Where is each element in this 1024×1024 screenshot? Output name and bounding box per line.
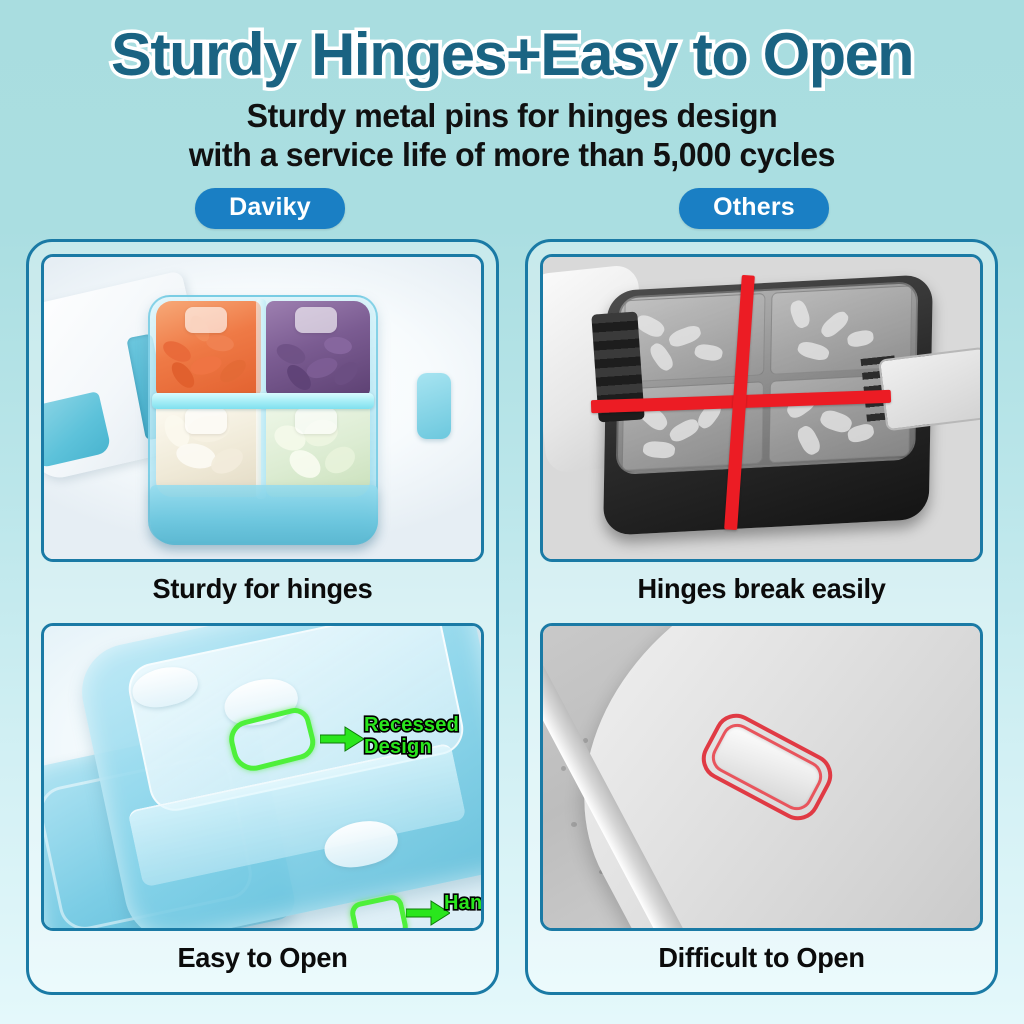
scene-daviky-pillbox — [44, 257, 481, 559]
others-compartment-1 — [623, 293, 765, 383]
photo-daviky-tray-closeup: Recessed Design Handle — [41, 623, 484, 931]
block-easy-to-open: Recessed Design Handle Easy to Open — [41, 623, 484, 986]
caption-difficult-to-open: Difficult to Open — [547, 931, 977, 986]
block-sturdy-for-hinges: Sturdy for hinges — [41, 254, 484, 617]
caption-easy-to-open: Easy to Open — [48, 931, 478, 986]
brand-badge-row: Daviky Others — [0, 188, 1024, 229]
header: Sturdy Hinges+Easy to Open Sturdy metal … — [0, 0, 1024, 174]
compartment-purple-pills — [266, 301, 371, 397]
badge-others: Others — [679, 188, 829, 229]
photo-others-broken-hinge — [540, 254, 983, 562]
caption-hinges-break-easily: Hinges break easily — [547, 562, 977, 617]
photo-others-latch-closeup — [540, 623, 983, 931]
compartment-orange-pills — [156, 301, 261, 397]
pillbox-base — [150, 485, 378, 545]
page-title: Sturdy Hinges+Easy to Open — [0, 22, 1024, 88]
compartment-clear-capsules — [266, 402, 371, 498]
page-subtitle: Sturdy metal pins for hinges design with… — [15, 96, 1008, 174]
badge-cell-right: Others — [512, 188, 996, 229]
badge-cell-left: Daviky — [28, 188, 512, 229]
scene-others-darkbox — [543, 257, 980, 559]
green-arrow-icon — [320, 726, 364, 752]
caption-sturdy-for-hinges: Sturdy for hinges — [48, 562, 478, 617]
subtitle-line-2: with a service life of more than 5,000 c… — [15, 135, 1008, 174]
scene-daviky-tray: Recessed Design Handle — [44, 626, 481, 928]
block-difficult-to-open: Difficult to Open — [540, 623, 983, 986]
others-broken-hinge-bar — [591, 312, 644, 423]
pillbox-side-clip — [417, 373, 451, 439]
pillbox-divider-horizontal — [152, 393, 374, 409]
comparison-columns: Sturdy for hinges Recessed Design — [0, 239, 1024, 995]
subtitle-line-1: Sturdy metal pins for hinges design — [15, 96, 1008, 135]
callout-label-recessed-design: Recessed Design — [364, 714, 459, 758]
callout-label-handle: Handle — [444, 892, 484, 914]
block-hinges-break-easily: Hinges break easily — [540, 254, 983, 617]
photo-daviky-pillbox-open — [41, 254, 484, 562]
badge-daviky: Daviky — [195, 188, 345, 229]
column-daviky: Sturdy for hinges Recessed Design — [26, 239, 499, 995]
others-detached-tray — [878, 347, 983, 432]
compartment-white-pills — [156, 402, 261, 498]
column-others: Hinges break easily Difficult to — [525, 239, 998, 995]
